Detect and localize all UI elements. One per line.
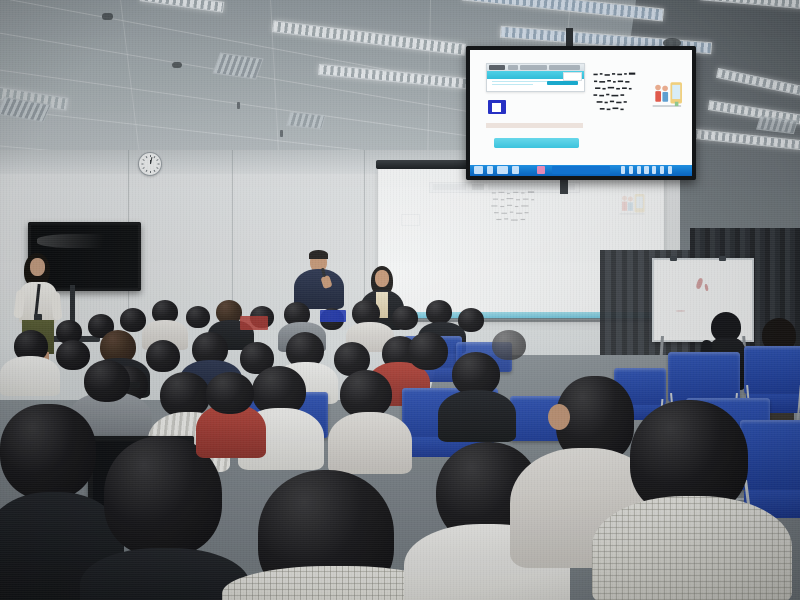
audience-head <box>84 360 130 402</box>
page-paragraph-glyphs <box>590 71 648 124</box>
audience-head <box>120 308 146 332</box>
audience-head <box>340 370 392 418</box>
audience-head <box>146 340 180 372</box>
wall-clock-icon <box>138 152 162 176</box>
audience-body <box>0 356 60 396</box>
presenter-female-head <box>375 270 389 287</box>
wall-sign <box>240 316 268 330</box>
browser-window[interactable] <box>486 63 586 93</box>
audience-head <box>426 300 452 324</box>
page-cta-button[interactable] <box>547 81 578 85</box>
audience-head <box>392 306 418 330</box>
browser-toolbar[interactable] <box>549 65 580 70</box>
browser-tab[interactable] <box>489 65 505 70</box>
audience-head <box>56 340 90 370</box>
audience-body <box>328 412 412 474</box>
page-footer-bar <box>494 138 578 148</box>
ceiling-grid-line <box>120 0 141 164</box>
audience-ear <box>548 404 570 430</box>
ceiling-speaker <box>102 13 113 20</box>
page-text-line <box>492 81 551 82</box>
seminar-room-photo <box>0 0 800 600</box>
standing-woman-head <box>30 258 45 276</box>
audience-head <box>206 372 254 414</box>
page-side-panel <box>563 72 583 80</box>
wall-sign <box>320 310 346 322</box>
ceiling-speaker <box>172 62 182 68</box>
audience-head <box>408 332 448 370</box>
audience-head <box>0 404 96 500</box>
browser-tab[interactable] <box>508 65 518 70</box>
sprinkler-head <box>280 130 283 137</box>
audience-body <box>592 496 792 600</box>
audience-body <box>438 390 516 442</box>
windows-taskbar[interactable] <box>470 165 692 176</box>
page-body-text <box>486 123 584 128</box>
audience-head <box>492 330 526 360</box>
browser-url-bar[interactable] <box>520 65 547 70</box>
screen-glare <box>37 234 131 248</box>
page-text-line <box>492 84 533 85</box>
site-logo-icon <box>488 100 506 114</box>
people-with-phone-illustration <box>650 75 686 118</box>
sprinkler-head <box>237 102 240 109</box>
presenter-male-hair <box>309 250 328 259</box>
tv-screen <box>470 50 692 176</box>
wall-television <box>466 46 696 180</box>
audience-head <box>186 306 210 328</box>
